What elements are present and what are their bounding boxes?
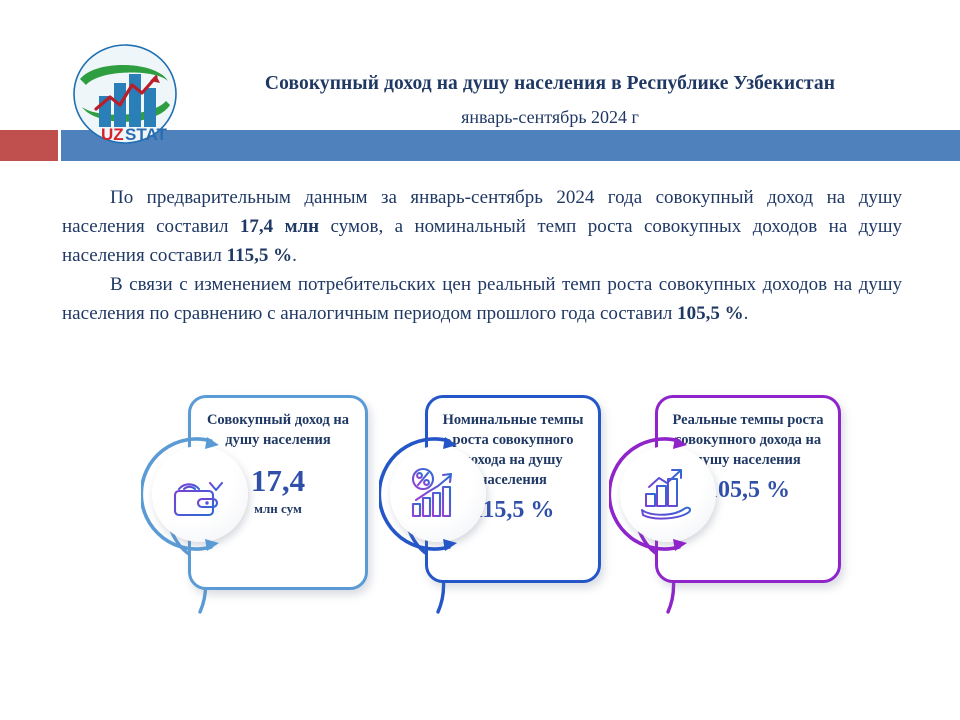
logo-text-uz: UZ [101,125,124,144]
title-line-1: Совокупный доход на душу населения в Рес… [185,72,915,96]
uzstat-logo: UZ STAT [72,41,178,147]
logo-text-stat: STAT [125,125,167,144]
metric-cards-row: Совокупный доход на душу населения 17,4 … [0,382,960,612]
paragraph-1: По предварительным данным за январь-сент… [62,184,902,271]
p2-text-2: . [744,303,749,324]
hand-bar-chart-growth-icon [638,466,698,522]
page-title: Совокупный доход на душу населения в Рес… [185,72,915,129]
card-unit-total-income: млн сум [254,501,302,517]
card-icon-badge-2 [390,446,486,542]
slide-canvas: UZ STAT Совокупный доход на душу населен… [0,0,960,720]
header-accent-block [0,130,58,161]
wallet-income-icon [169,465,231,523]
p2-text-1: В связи с изменением потребительских цен… [62,274,902,324]
header-band [61,130,960,161]
card-value-total-income: 17,4 [251,464,305,498]
title-line-2: январь-сентябрь 2024 г [185,106,915,129]
card-value-real-growth: 105,5 % [706,477,790,503]
body-text: По предварительным данным за январь-сент… [62,184,902,328]
p1-highlight-income: 17,4 млн [240,216,319,237]
card-icon-badge-3 [620,446,716,542]
card-title-total-income: Совокупный доход на душу населения [191,410,365,450]
paragraph-2: В связи с изменением потребительских цен… [62,271,902,329]
p2-highlight-real: 105,5 % [677,303,744,324]
card-icon-badge-1 [152,446,248,542]
p1-highlight-nominal: 115,5 % [227,245,292,266]
percent-bar-chart-growth-icon [408,466,468,522]
p1-text-3: . [292,245,297,266]
